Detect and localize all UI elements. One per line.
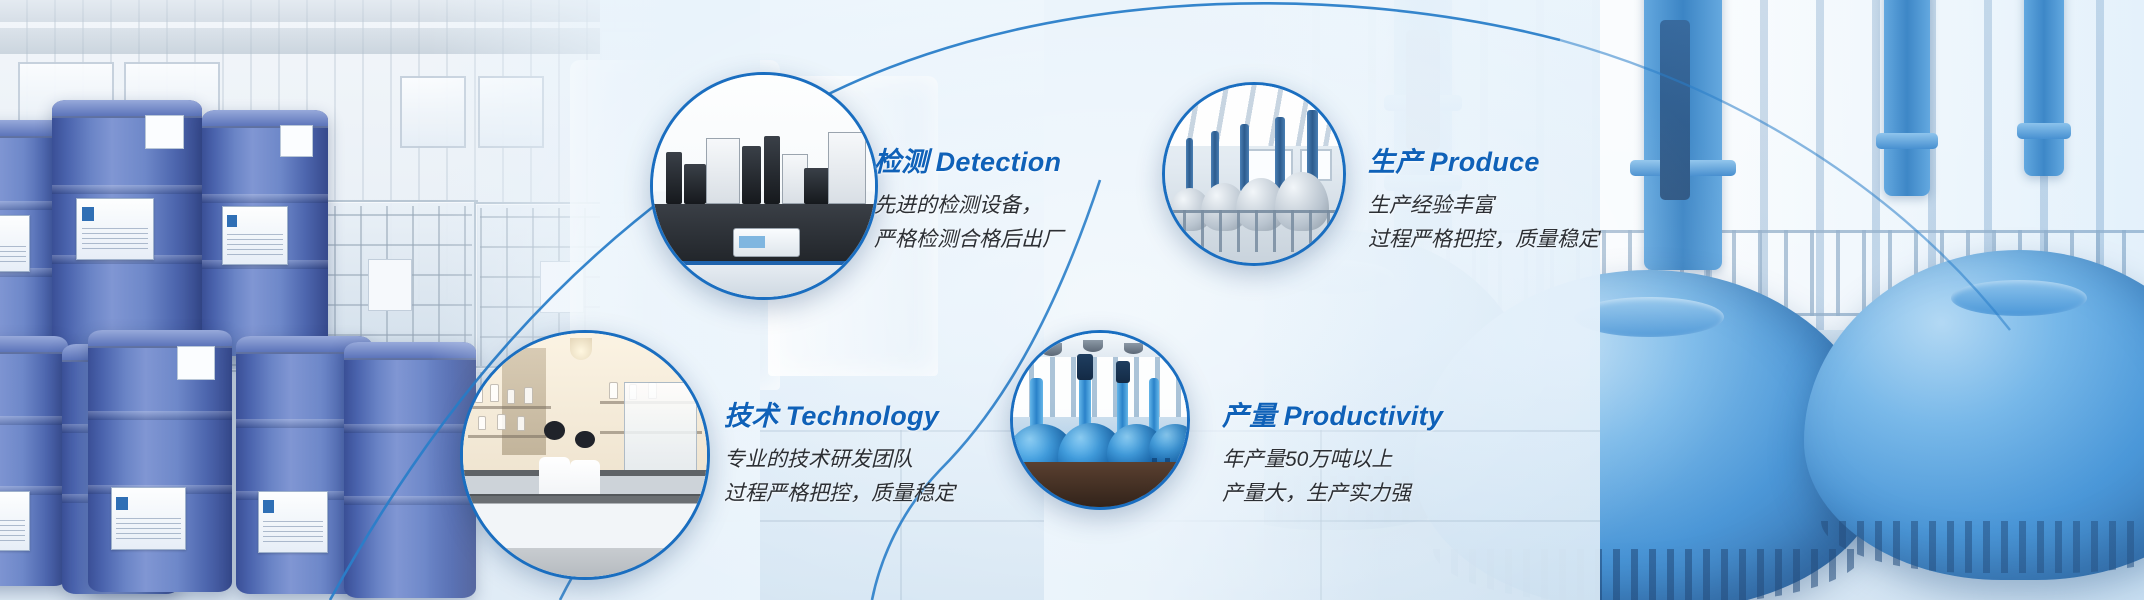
- feature-productivity-title-en: Productivity: [1277, 401, 1444, 431]
- productivity-reactors-photo: [1010, 330, 1190, 510]
- feature-produce: 生产Produce 生产经验丰富 过程严格把控，质量稳定: [1368, 148, 1599, 257]
- technology-lab-photo: [460, 330, 710, 580]
- feature-productivity-title-cn: 产量: [1222, 401, 1277, 431]
- detection-photo-content: [653, 75, 875, 297]
- lab-counter-front: [463, 494, 707, 548]
- feature-detection-title: 检测Detection: [874, 148, 1063, 178]
- feature-detection-title-en: Detection: [929, 147, 1062, 177]
- bench-scale: [733, 228, 800, 257]
- feature-productivity-line-2: 产量大，生产实力强: [1222, 477, 1443, 511]
- feature-detection-title-cn: 检测: [874, 147, 929, 177]
- productivity-photo-content: [1013, 333, 1187, 507]
- company-strength-banner: 检测Detection 先进的检测设备， 严格检测合格后出厂 生产Produce…: [0, 0, 2144, 600]
- feature-productivity: 产量Productivity 年产量50万吨以上 产量大，生产实力强: [1222, 402, 1443, 511]
- feature-produce-title: 生产Produce: [1368, 148, 1599, 178]
- feature-technology-title-en: Technology: [779, 401, 940, 431]
- hall-floor: [1013, 462, 1187, 507]
- hall-railing: [1165, 210, 1343, 253]
- feature-technology-title: 技术Technology: [724, 402, 955, 432]
- connector-arc: [0, 0, 2144, 600]
- researcher-head: [575, 431, 595, 448]
- feature-produce-title-en: Produce: [1423, 147, 1540, 177]
- feature-technology: 技术Technology 专业的技术研发团队 过程严格把控，质量稳定: [724, 402, 955, 511]
- feature-productivity-line-1: 年产量50万吨以上: [1222, 443, 1443, 477]
- hall-roof: [1162, 85, 1346, 146]
- production-hall-photo: [1162, 82, 1346, 266]
- feature-detection-line-2: 严格检测合格后出厂: [874, 223, 1063, 257]
- bench-plinth: [653, 261, 875, 297]
- feature-technology-line-2: 过程严格把控，质量稳定: [724, 477, 955, 511]
- lab-floor: [463, 548, 707, 577]
- produce-photo-content: [1165, 85, 1343, 263]
- feature-productivity-title: 产量Productivity: [1222, 402, 1443, 432]
- feature-produce-title-cn: 生产: [1368, 147, 1423, 177]
- ceiling-lamp-icon: [570, 338, 592, 360]
- feature-produce-line-1: 生产经验丰富: [1368, 189, 1599, 223]
- feature-detection: 检测Detection 先进的检测设备， 严格检测合格后出厂: [874, 148, 1063, 257]
- feature-produce-line-2: 过程严格把控，质量稳定: [1368, 223, 1599, 257]
- technology-photo-content: [463, 333, 707, 577]
- feature-detection-line-1: 先进的检测设备，: [874, 189, 1063, 223]
- feature-technology-line-1: 专业的技术研发团队: [724, 443, 955, 477]
- detection-lab-photo: [650, 72, 878, 300]
- ceiling-lamp-icon: [1041, 343, 1062, 355]
- feature-technology-title-cn: 技术: [724, 401, 779, 431]
